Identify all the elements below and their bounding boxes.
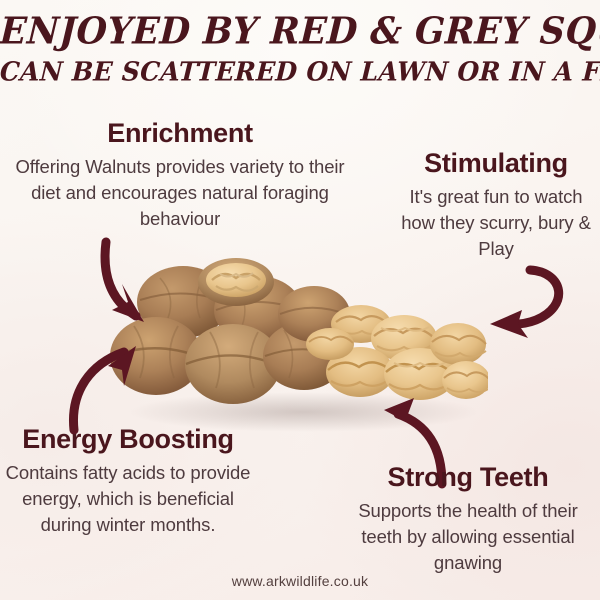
benefit-body-energy-boosting: Contains fatty acids to provide energy, … <box>2 460 254 538</box>
footer-website-url[interactable]: www.arkwildlife.co.uk <box>0 573 600 589</box>
benefit-block-enrichment: Enrichment Offering Walnuts provides var… <box>8 118 352 232</box>
title-line-1: Enjoyed by Red & Grey Squirrels <box>0 11 600 53</box>
poster-title: Enjoyed by Red & Grey Squirrels Can be S… <box>0 12 600 88</box>
curved-arrow-icon-stimulating <box>478 262 598 362</box>
benefit-body-enrichment: Offering Walnuts provides variety to the… <box>8 154 352 232</box>
benefit-heading-stimulating: Stimulating <box>392 148 600 178</box>
title-line-2: Can be Scattered on Lawn or in a Feeder <box>0 55 600 89</box>
benefit-block-stimulating: Stimulating It's great fun to watch how … <box>392 148 600 262</box>
walnuts-photo <box>108 252 488 432</box>
benefit-heading-strong-teeth: Strong Teeth <box>336 462 600 492</box>
infographic-poster: Enjoyed by Red & Grey Squirrels Can be S… <box>0 0 600 600</box>
benefit-heading-energy-boosting: Energy Boosting <box>2 424 254 454</box>
benefit-body-stimulating: It's great fun to watch how they scurry,… <box>392 184 600 262</box>
benefit-block-energy-boosting: Energy Boosting Contains fatty acids to … <box>2 424 254 538</box>
benefit-block-strong-teeth: Strong Teeth Supports the health of thei… <box>336 462 600 576</box>
benefit-body-strong-teeth: Supports the health of their teeth by al… <box>336 498 600 576</box>
benefit-heading-enrichment: Enrichment <box>8 118 352 148</box>
